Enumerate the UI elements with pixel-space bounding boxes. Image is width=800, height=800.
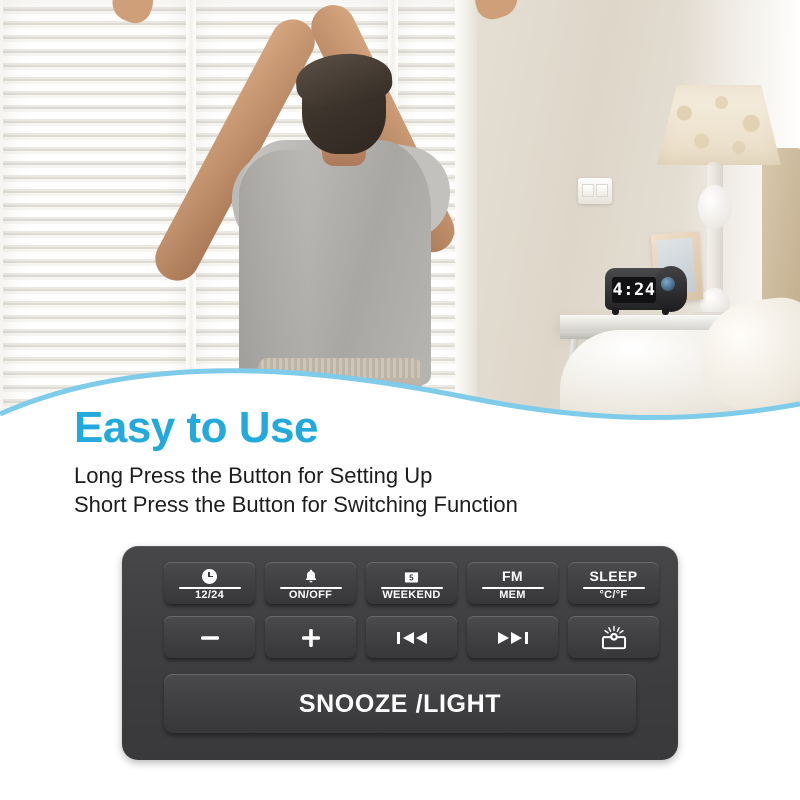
button-sleep-temp-unit[interactable]: SLEEP °C/°F <box>568 562 659 605</box>
clock-icon <box>202 569 217 584</box>
page-title: Easy to Use <box>74 406 318 450</box>
bell-icon <box>303 568 319 584</box>
button-label-fm: FM <box>502 567 523 586</box>
plus-icon <box>296 623 326 653</box>
button-label-mem: MEM <box>499 590 526 601</box>
tshirt-shading <box>239 150 309 380</box>
previous-track-icon <box>394 628 430 648</box>
calendar-icon-wrap: 5 <box>404 567 419 586</box>
button-fm-mem[interactable]: FM MEM <box>467 562 558 605</box>
button-next-track[interactable] <box>467 616 558 659</box>
button-row-controls <box>164 616 659 659</box>
button-alarm-on-off[interactable]: ON/OFF <box>265 562 356 605</box>
button-label-weekend: WEEKEND <box>382 590 440 601</box>
control-panel: 12/24 ON/OFF 5 <box>122 546 678 760</box>
button-row-functions: 12/24 ON/OFF 5 <box>164 562 659 605</box>
pajama-waistband <box>258 358 422 378</box>
button-projector-light[interactable] <box>568 616 659 659</box>
button-increase[interactable] <box>265 616 356 659</box>
button-snooze-light[interactable]: SNOOZE /LIGHT <box>164 674 636 734</box>
calendar-icon: 5 <box>404 568 419 584</box>
button-label-temp-unit: °C/°F <box>599 590 627 601</box>
subtitle-line-1: Long Press the Button for Setting Up <box>74 462 432 490</box>
svg-text:5: 5 <box>409 573 414 582</box>
button-clock-12-24[interactable]: 12/24 <box>164 562 255 605</box>
button-weekend[interactable]: 5 WEEKEND <box>366 562 457 605</box>
button-previous-track[interactable] <box>366 616 457 659</box>
minus-icon <box>195 623 225 653</box>
right-hand <box>470 0 522 24</box>
button-decrease[interactable] <box>164 616 255 659</box>
man-stretching <box>0 0 800 420</box>
button-label-on-off: ON/OFF <box>289 590 332 601</box>
left-hand <box>107 0 159 28</box>
projector-light-icon <box>597 625 631 651</box>
subtitle-line-2: Short Press the Button for Switching Fun… <box>74 491 518 519</box>
next-track-icon <box>495 628 531 648</box>
product-feature-page: 4:24 Easy to Use Long Press the <box>0 0 800 800</box>
bell-icon-wrap <box>303 567 319 586</box>
button-label-12-24: 12/24 <box>195 590 224 601</box>
clock-icon-wrap <box>202 567 217 586</box>
button-label-sleep: SLEEP <box>590 567 638 586</box>
hero-photo: 4:24 <box>0 0 800 420</box>
